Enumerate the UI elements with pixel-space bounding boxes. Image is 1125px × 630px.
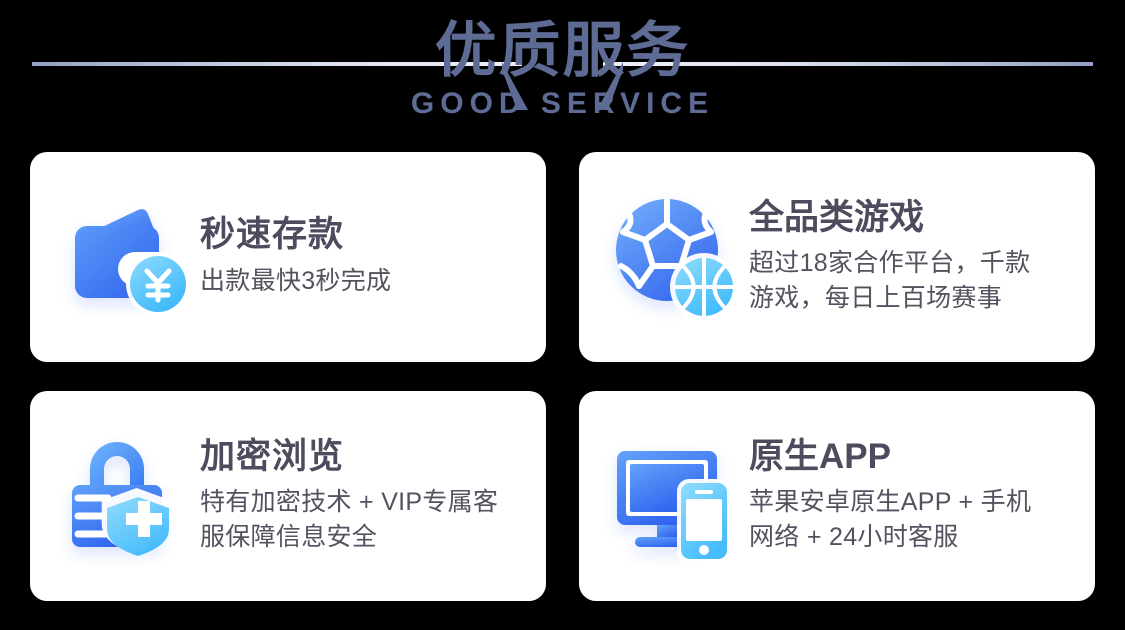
card-text-encryption: 加密浏览 特有加密技术 + VIP专属客服保障信息安全 bbox=[194, 438, 508, 555]
page-subtitle: GOOD SERVICE bbox=[0, 87, 1125, 121]
page-title: 优质服务 bbox=[0, 0, 1125, 91]
feature-card-native-app[interactable]: 原生APP 苹果安卓原生APP + 手机网络 + 24小时客服 bbox=[579, 391, 1095, 601]
card-title: 原生APP bbox=[749, 438, 1031, 477]
feature-card-games[interactable]: 全品类游戏 超过18家合作平台，千款游戏，每日上百场赛事 bbox=[579, 152, 1095, 362]
page-header: 优质服务 GOOD SERVICE bbox=[0, 0, 1125, 146]
card-description: 超过18家合作平台，千款游戏，每日上百场赛事 bbox=[749, 246, 1030, 315]
wallet-yen-icon bbox=[56, 188, 194, 326]
card-description: 苹果安卓原生APP + 手机网络 + 24小时客服 bbox=[749, 485, 1031, 554]
feature-card-encryption[interactable]: 加密浏览 特有加密技术 + VIP专属客服保障信息安全 bbox=[30, 391, 546, 601]
card-text-games: 全品类游戏 超过18家合作平台，千款游戏，每日上百场赛事 bbox=[743, 199, 1040, 316]
card-text-deposit: 秒速存款 出款最快3秒完成 bbox=[194, 216, 401, 298]
feature-card-deposit[interactable]: 秒速存款 出款最快3秒完成 bbox=[30, 152, 546, 362]
card-title: 加密浏览 bbox=[200, 438, 498, 477]
lock-shield-icon bbox=[56, 427, 194, 565]
card-title: 全品类游戏 bbox=[749, 199, 1030, 238]
promo-page: 优质服务 GOOD SERVICE bbox=[0, 0, 1125, 630]
monitor-phone-icon bbox=[605, 427, 743, 565]
card-text-native-app: 原生APP 苹果安卓原生APP + 手机网络 + 24小时客服 bbox=[743, 438, 1041, 555]
card-description: 特有加密技术 + VIP专属客服保障信息安全 bbox=[200, 485, 498, 554]
card-description: 出款最快3秒完成 bbox=[200, 264, 391, 299]
feature-card-grid: 秒速存款 出款最快3秒完成 bbox=[30, 152, 1095, 602]
card-title: 秒速存款 bbox=[200, 216, 391, 255]
header-title-block: 优质服务 GOOD SERVICE bbox=[0, 0, 1125, 121]
soccer-basketball-icon bbox=[605, 188, 743, 326]
